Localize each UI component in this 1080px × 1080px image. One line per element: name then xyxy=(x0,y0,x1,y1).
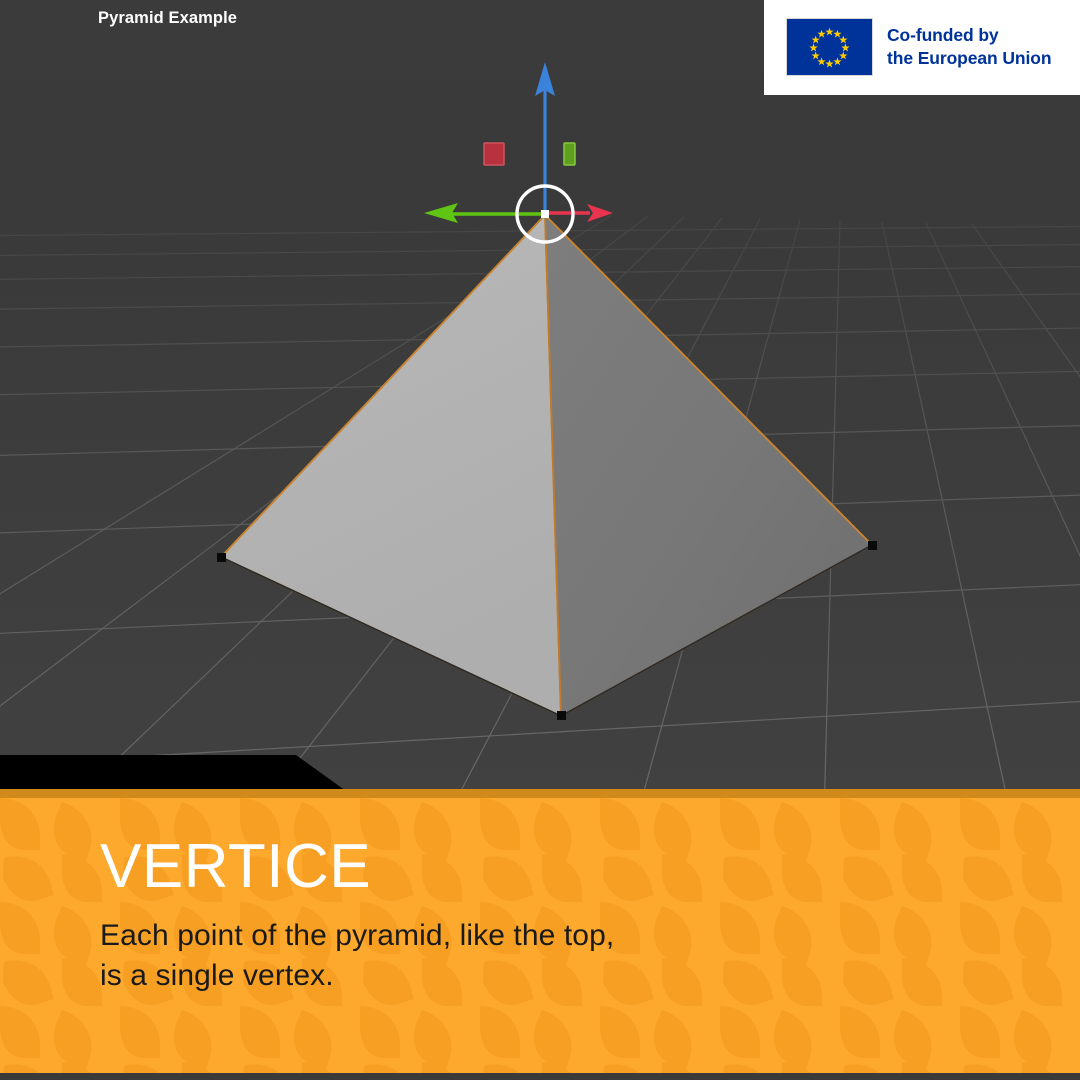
green-plane-handle xyxy=(564,143,575,165)
caption-panel: VERTICE Each point of the pyramid, like … xyxy=(0,798,1080,1073)
3d-viewport[interactable]: Pyramid Example xyxy=(0,0,1080,798)
bottom-edge-bar xyxy=(0,1073,1080,1080)
viewport-label-bar xyxy=(0,755,350,791)
z-axis-arrow xyxy=(535,62,555,214)
eu-cofunding-badge: Co-funded by the European Union xyxy=(764,0,1080,95)
y-axis-arrow xyxy=(545,204,613,222)
eu-flag-icon xyxy=(786,18,873,76)
gizmo-origin-point xyxy=(541,210,549,218)
caption-body-line-2: is a single vertex. xyxy=(100,956,614,996)
eu-badge-text: Co-funded by the European Union xyxy=(887,24,1051,70)
eu-badge-line-1: Co-funded by xyxy=(887,24,1051,47)
eu-badge-line-2: the European Union xyxy=(887,47,1051,70)
slide-canvas: Pyramid Example xyxy=(0,0,1080,1080)
red-plane-handle xyxy=(484,143,504,165)
move-transform-gizmo[interactable] xyxy=(0,0,1080,798)
caption-body-line-1: Each point of the pyramid, like the top, xyxy=(100,916,614,956)
x-axis-arrow xyxy=(424,203,545,223)
viewport-label-text: Pyramid Example xyxy=(98,0,237,36)
caption-text-block: VERTICE Each point of the pyramid, like … xyxy=(100,836,614,996)
caption-accent-strip xyxy=(0,789,1080,798)
caption-title: VERTICE xyxy=(100,836,614,898)
